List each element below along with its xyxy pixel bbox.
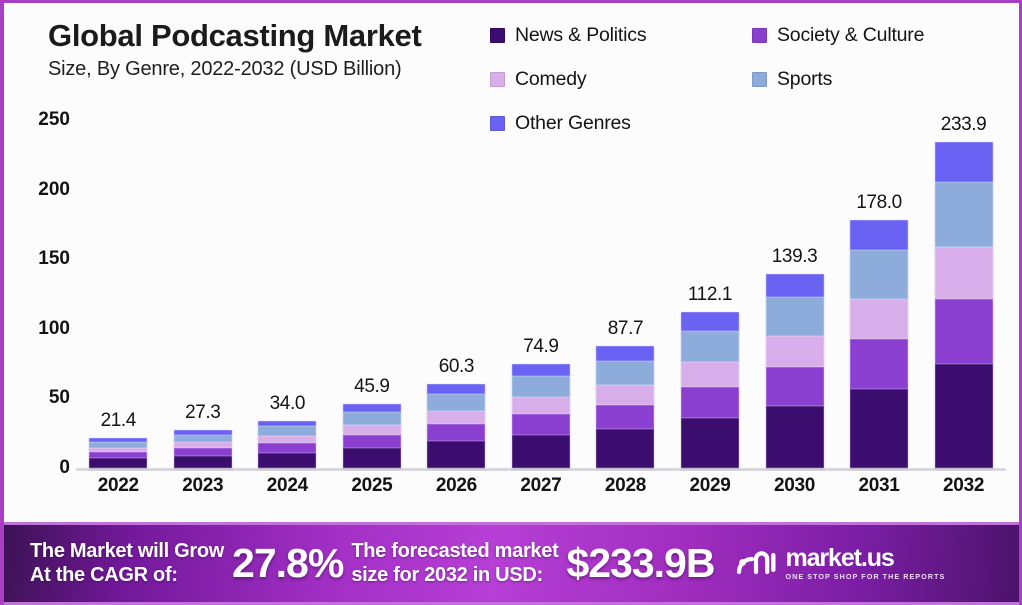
bar-segment[interactable] <box>681 312 739 331</box>
bar-segment[interactable] <box>427 424 485 441</box>
forecast-value: $233.9B <box>566 540 714 587</box>
bar-segment[interactable] <box>681 362 739 387</box>
bar-value-label: 21.4 <box>76 410 160 432</box>
stacked-bar[interactable] <box>258 421 316 468</box>
stacked-bar[interactable] <box>935 142 993 468</box>
bar-segment[interactable] <box>258 443 316 452</box>
legend-item-society-culture[interactable]: Society & Culture <box>752 22 1010 48</box>
cagr-caption-line1: The Market will Grow <box>30 540 224 563</box>
legend-label: News & Politics <box>515 24 646 47</box>
cagr-caption: The Market will Grow At the CAGR of: <box>30 540 224 586</box>
bar-segment[interactable] <box>596 429 654 468</box>
bar-value-label: 139.3 <box>753 246 837 268</box>
bar-segment[interactable] <box>343 435 401 448</box>
bar-segment[interactable] <box>596 346 654 361</box>
bar-segment[interactable] <box>512 397 570 414</box>
bar-segment[interactable] <box>850 389 908 468</box>
bar-segment[interactable] <box>512 414 570 435</box>
stacked-bar[interactable] <box>766 274 824 468</box>
logo-tagline: ONE STOP SHOP FOR THE REPORTS <box>785 573 945 580</box>
x-axis-baseline <box>76 468 1006 471</box>
bar-group[interactable]: 34.0 <box>245 103 329 468</box>
page-subtitle: Size, By Genre, 2022-2032 (USD Billion) <box>48 58 478 81</box>
bar-value-label: 233.9 <box>922 114 1006 136</box>
bar-value-label: 27.3 <box>161 402 245 424</box>
bar-segment[interactable] <box>681 387 739 418</box>
bar-group[interactable]: 112.1 <box>668 103 752 468</box>
bar-segment[interactable] <box>766 406 824 468</box>
bar-segment[interactable] <box>766 297 824 336</box>
legend-label: Comedy <box>515 68 586 91</box>
bar-group[interactable]: 74.9 <box>499 103 583 468</box>
bar-segment[interactable] <box>512 435 570 468</box>
bar-segment[interactable] <box>427 441 485 468</box>
logo-name: market.us <box>785 546 945 571</box>
footer-banner: The Market will Grow At the CAGR of: 27.… <box>4 522 1022 605</box>
bar-segment[interactable] <box>850 220 908 250</box>
forecast-caption-line2: size for 2032 in USD: <box>351 564 558 587</box>
legend-swatch-icon <box>490 72 505 87</box>
bar-segment[interactable] <box>935 182 993 247</box>
bar-group[interactable]: 45.9 <box>330 103 414 468</box>
bar-group[interactable]: 233.9 <box>922 103 1006 468</box>
bar-segment[interactable] <box>681 418 739 468</box>
y-axis-tick: 200 <box>38 179 70 201</box>
bar-value-label: 74.9 <box>499 336 583 358</box>
x-axis-tick: 2031 <box>837 475 921 497</box>
y-axis-tick: 250 <box>38 109 70 131</box>
bar-value-label: 178.0 <box>837 192 921 214</box>
bar-group[interactable]: 27.3 <box>161 103 245 468</box>
legend-swatch-icon <box>490 28 505 43</box>
bar-segment[interactable] <box>343 425 401 435</box>
bar-segment[interactable] <box>766 336 824 367</box>
stacked-bar[interactable] <box>174 430 232 468</box>
bar-segment[interactable] <box>935 247 993 299</box>
y-axis-tick: 100 <box>38 318 70 340</box>
x-axis-tick: 2024 <box>245 475 329 497</box>
cagr-value: 27.8% <box>232 540 343 587</box>
bar-segment[interactable] <box>935 299 993 364</box>
bar-segment[interactable] <box>596 405 654 429</box>
y-axis: 050100150200250 <box>4 103 76 471</box>
y-axis-tick: 50 <box>49 387 70 409</box>
bar-value-label: 87.7 <box>583 318 667 340</box>
bar-group[interactable]: 21.4 <box>76 103 160 468</box>
bar-group[interactable]: 139.3 <box>753 103 837 468</box>
bar-value-label: 34.0 <box>245 393 329 415</box>
bar-segment[interactable] <box>258 453 316 468</box>
bar-segment[interactable] <box>89 458 147 468</box>
cagr-caption-line2: At the CAGR of: <box>30 564 224 587</box>
bar-segment[interactable] <box>850 250 908 300</box>
bar-segment[interactable] <box>681 331 739 362</box>
bar-segment[interactable] <box>174 456 232 468</box>
bar-segment[interactable] <box>935 364 993 468</box>
stacked-bar[interactable] <box>343 404 401 468</box>
page-title: Global Podcasting Market <box>48 19 478 54</box>
bar-segment[interactable] <box>512 364 570 376</box>
bar-segment[interactable] <box>427 384 485 394</box>
bar-segment[interactable] <box>258 436 316 444</box>
bar-segment[interactable] <box>512 376 570 397</box>
bar-segment[interactable] <box>427 411 485 424</box>
bar-segment[interactable] <box>427 394 485 411</box>
x-axis-tick: 2023 <box>161 475 245 497</box>
bar-segment[interactable] <box>766 274 824 297</box>
stacked-bar[interactable] <box>850 220 908 468</box>
bar-segment[interactable] <box>850 299 908 339</box>
bar-segment[interactable] <box>343 412 401 425</box>
legend-label: Society & Culture <box>777 24 924 47</box>
bar-series-container: 21.427.334.045.960.374.987.7112.1139.317… <box>76 103 1006 468</box>
forecast-caption-line1: The forecasted market <box>351 540 558 563</box>
signal-wave-icon <box>736 546 778 581</box>
x-axis-tick: 2029 <box>668 475 752 497</box>
y-axis-tick: 150 <box>38 248 70 270</box>
x-axis-tick: 2030 <box>753 475 837 497</box>
bar-group[interactable]: 178.0 <box>837 103 921 468</box>
x-axis-tick: 2025 <box>330 475 414 497</box>
stacked-bar[interactable] <box>89 438 147 468</box>
bar-value-label: 112.1 <box>668 284 752 306</box>
legend-swatch-icon <box>752 28 767 43</box>
legend-swatch-icon <box>752 72 767 87</box>
infographic-page: Global Podcasting Market Size, By Genre,… <box>0 0 1022 605</box>
legend-label: Sports <box>777 68 832 91</box>
x-axis-tick: 2026 <box>414 475 498 497</box>
x-axis-tick: 2027 <box>499 475 583 497</box>
market-us-logo[interactable]: market.us ONE STOP SHOP FOR THE REPORTS <box>736 546 945 581</box>
bar-segment[interactable] <box>258 426 316 435</box>
legend-item-news-politics[interactable]: News & Politics <box>490 22 752 48</box>
x-axis-tick: 2032 <box>922 475 1006 497</box>
title-block: Global Podcasting Market Size, By Genre,… <box>48 19 478 81</box>
stacked-bar[interactable] <box>427 384 485 468</box>
bar-segment[interactable] <box>596 361 654 385</box>
legend-item-sports[interactable]: Sports <box>752 66 1010 92</box>
bar-segment[interactable] <box>343 448 401 468</box>
bar-segment[interactable] <box>766 367 824 406</box>
bar-segment[interactable] <box>596 385 654 404</box>
bar-value-label: 60.3 <box>414 356 498 378</box>
bar-segment[interactable] <box>935 142 993 181</box>
bar-segment[interactable] <box>850 339 908 389</box>
bar-group[interactable]: 87.7 <box>583 103 667 468</box>
bar-segment[interactable] <box>174 435 232 443</box>
stacked-bar[interactable] <box>596 346 654 468</box>
x-axis-tick: 2028 <box>583 475 667 497</box>
legend-item-comedy[interactable]: Comedy <box>490 66 752 92</box>
logo-text: market.us ONE STOP SHOP FOR THE REPORTS <box>785 546 945 580</box>
bar-group[interactable]: 60.3 <box>414 103 498 468</box>
chart-plot-area: 050100150200250 21.427.334.045.960.374.9… <box>4 103 1022 518</box>
x-axis-tick: 2022 <box>76 475 160 497</box>
bar-segment[interactable] <box>343 404 401 412</box>
stacked-bar[interactable] <box>681 312 739 468</box>
stacked-bar[interactable] <box>512 364 570 468</box>
bar-value-label: 45.9 <box>330 376 414 398</box>
forecast-caption: The forecasted market size for 2032 in U… <box>351 540 558 586</box>
bar-segment[interactable] <box>174 448 232 456</box>
x-axis: 2022202320242025202620272028202920302031… <box>76 475 1006 497</box>
y-axis-tick: 0 <box>59 457 70 479</box>
